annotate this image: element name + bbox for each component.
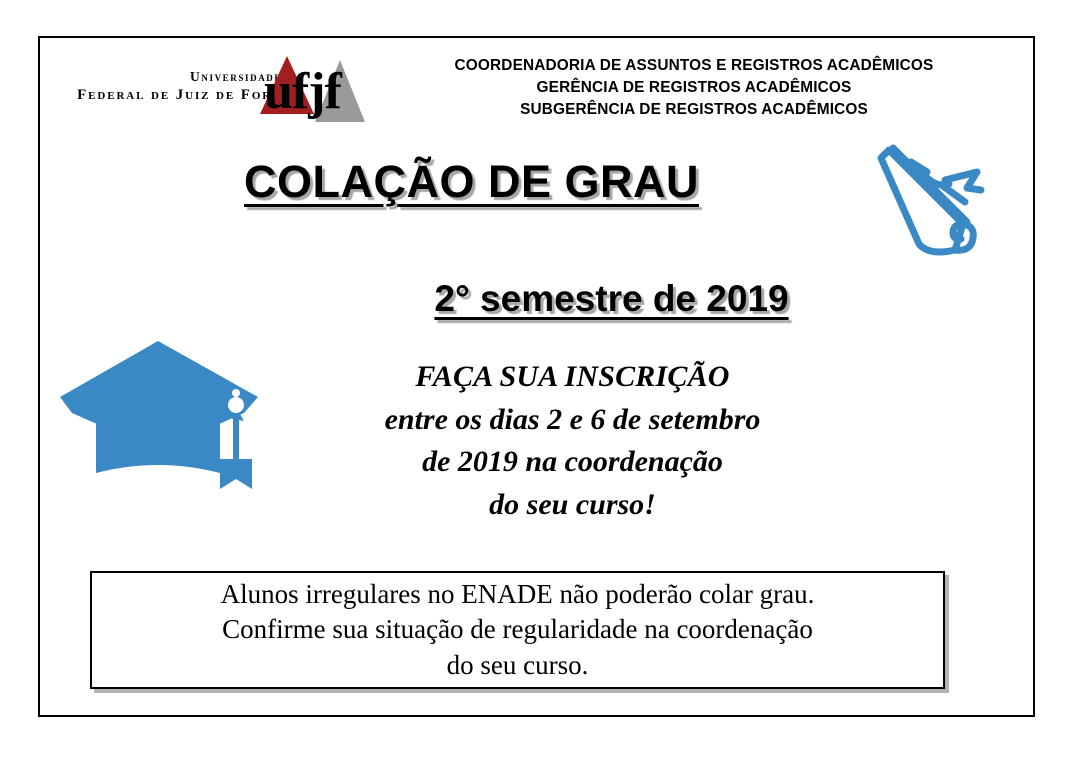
poster-header: Universidade Federal de Juiz de Fora ufj… [40, 38, 1033, 142]
semester-row: 2° semestre de 2019 [40, 278, 1033, 320]
warning-line-3: do seu curso. [447, 648, 589, 683]
cta-line-4: do seu curso! [112, 484, 1033, 527]
warning-line-2: Confirme sua situação de regularidade na… [222, 612, 813, 647]
svg-text:ufjf: ufjf [264, 63, 343, 120]
poster-frame: Universidade Federal de Juiz de Fora ufj… [38, 36, 1035, 717]
call-to-action: FAÇA SUA INSCRIÇÃO entre os dias 2 e 6 d… [40, 356, 1033, 526]
ufjf-logo-icon: ufjf [252, 50, 367, 136]
warning-line-1: Alunos irregulares no ENADE não poderão … [221, 577, 815, 612]
department-line-3: SUBGERÊNCIA DE REGISTROS ACADÊMICOS [370, 99, 1018, 121]
ufjf-logo: Universidade Federal de Juiz de Fora ufj… [52, 50, 370, 138]
ufjf-wordmark: Universidade Federal de Juiz de Fora [52, 68, 282, 106]
semester-subtitle: 2° semestre de 2019 [434, 278, 788, 320]
cta-line-3: de 2019 na coordenação [112, 441, 1033, 484]
ufjf-wordmark-line-2: Federal de Juiz de Fora [14, 86, 282, 106]
diploma-scroll-icon [867, 132, 993, 262]
cta-line-2: entre os dias 2 e 6 de setembro [112, 399, 1033, 442]
page-title: COLAÇÃO DE GRAU [244, 156, 699, 208]
department-line-2: GERÊNCIA DE REGISTROS ACADÊMICOS [370, 77, 1018, 99]
cta-line-1: FAÇA SUA INSCRIÇÃO [112, 356, 1033, 399]
department-heading: COORDENADORIA DE ASSUNTOS E REGISTROS AC… [370, 55, 1018, 121]
ufjf-wordmark-line-1: Universidade [52, 68, 282, 86]
department-line-1: COORDENADORIA DE ASSUNTOS E REGISTROS AC… [370, 55, 1018, 77]
warning-box: Alunos irregulares no ENADE não poderão … [90, 571, 945, 689]
